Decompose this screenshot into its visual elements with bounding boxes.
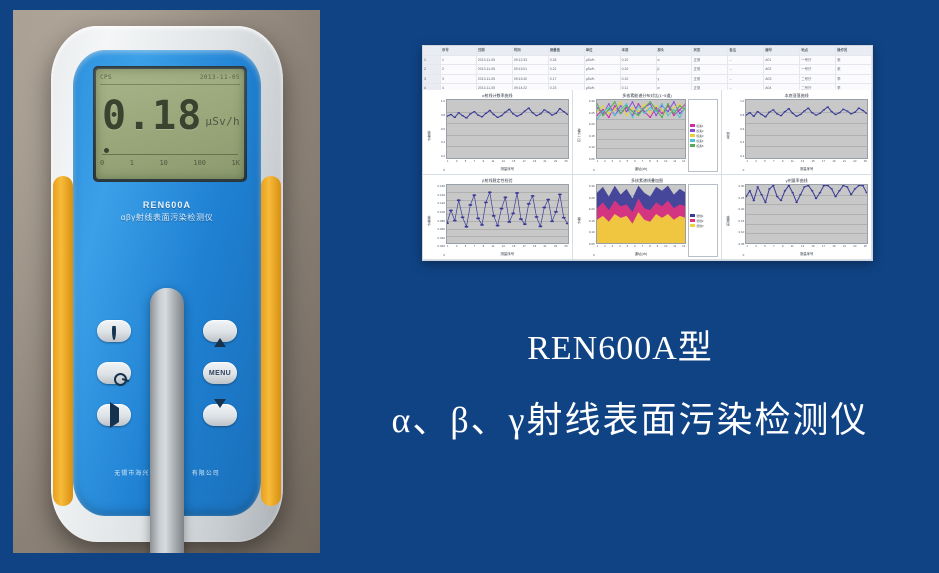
chart-data-point xyxy=(504,112,507,113)
chart-data-point xyxy=(835,114,838,115)
spreadsheet-header-cell: 序号 xyxy=(441,46,477,55)
chart-series-line xyxy=(447,108,568,118)
chart-data-point xyxy=(749,190,752,191)
chart-x-tick: 23 xyxy=(853,159,856,166)
chart-data-point xyxy=(858,185,861,186)
chart-data-point xyxy=(643,103,645,104)
chart-y-tick: 0.30 xyxy=(582,99,595,103)
chart-x-tick: 19 xyxy=(832,159,835,166)
chart-x-tick: 13 xyxy=(801,244,804,251)
chart-x-tick: 9 xyxy=(657,159,659,166)
chart-y-tick: 0.8 xyxy=(432,113,445,117)
chart-data-point xyxy=(619,101,621,102)
chart-legend-label: 核素2 xyxy=(696,129,703,133)
chart-data-point xyxy=(457,112,460,113)
chart-y-tick: 0.25 xyxy=(731,196,744,200)
chart-x-tick: 17 xyxy=(523,244,526,251)
spreadsheet-cell: 0.10 xyxy=(621,75,657,84)
spreadsheet-cell: 0.10 xyxy=(621,56,657,65)
chart-x-ticks: 135791113151719212325 xyxy=(745,244,868,251)
chart-data-point xyxy=(835,196,838,197)
product-subtitle: α、β、γ射线表面污染检测仪 xyxy=(330,391,930,443)
chart-data-point xyxy=(831,111,834,112)
chart-data-point xyxy=(819,192,822,193)
chart-data-point xyxy=(619,113,621,114)
chart-data-point xyxy=(492,114,495,115)
chart-data-point xyxy=(764,202,767,203)
chart-x-tick: 10 xyxy=(664,159,667,166)
spreadsheet-cell: -- xyxy=(728,65,764,74)
device-faceplate: CPS 2013-11-05 0.18 μSv/h 0 xyxy=(73,50,261,516)
chart-x-tick: 9 xyxy=(483,244,485,251)
chart-x-tick: 23 xyxy=(853,244,856,251)
spreadsheet-cell: 正常 xyxy=(692,75,728,84)
chart-legend-label: 核素1 xyxy=(696,124,703,128)
chart-body: 本底1.00.80.60.40.20135791113151719212325测… xyxy=(725,99,868,172)
chart-data-point xyxy=(524,110,527,111)
chart-legend-swatch xyxy=(690,129,695,132)
chart-y-tick: 0.10 xyxy=(582,145,595,149)
chart-y-tick: 0.8 xyxy=(731,113,744,117)
chart-data-point xyxy=(613,101,615,102)
chart-y-tick: 1.0 xyxy=(731,99,744,103)
chart-data-point xyxy=(531,112,534,113)
product-model-title: REN600A型 xyxy=(310,320,930,369)
spreadsheet-row: 332013-11-0509:13:400.17μSv/h0.10γ正常--A0… xyxy=(423,75,872,85)
spreadsheet-cell: μSv/h xyxy=(585,65,621,74)
chart-data-point xyxy=(746,196,747,197)
chart-data-point xyxy=(637,111,639,112)
chart-data-point xyxy=(643,107,645,108)
chart-data-point xyxy=(842,185,845,186)
chart-data-point xyxy=(619,109,621,110)
chart-data-point xyxy=(655,105,657,106)
chart-legend-label: 核素5 xyxy=(696,144,703,148)
chart-x-ticks: 123456789101112 xyxy=(596,244,687,251)
chart-data-point xyxy=(673,101,675,102)
down-button[interactable] xyxy=(203,404,237,426)
chart-x-tick: 25 xyxy=(864,159,867,166)
chart-body: 计数率1.00.80.60.40.20135791113151719212325… xyxy=(426,99,569,172)
chart-y-tick: 0.20 xyxy=(582,122,595,126)
chart-data-point xyxy=(602,115,604,116)
chart-y-tick: 0.20 xyxy=(731,207,744,211)
spreadsheet-header-cell: 状态 xyxy=(692,46,728,55)
chart-legend-item: 谱线1 xyxy=(690,214,716,218)
chart-series-layer xyxy=(597,185,686,243)
spreadsheet-header-cell: 测量值 xyxy=(549,46,585,55)
chart-y-tick: 0.05 xyxy=(731,242,744,246)
chart-x-tick: 15 xyxy=(512,244,515,251)
slide-canvas: CPS 2013-11-05 0.18 μSv/h 0 xyxy=(0,0,939,573)
chart-data-point xyxy=(655,115,657,116)
chart-y-tick: 0.15 xyxy=(731,219,744,223)
chart-x-tick: 13 xyxy=(502,244,505,251)
chart-data-point xyxy=(608,109,610,110)
spreadsheet-cell: A02 xyxy=(764,65,800,74)
chart-data-point xyxy=(854,188,857,189)
lcd-scale: 0 1 10 100 1K xyxy=(100,157,240,169)
chart-x-tick: 2 xyxy=(604,244,606,251)
spreadsheet-cell: 张 xyxy=(836,56,872,65)
chart-data-point xyxy=(823,185,826,186)
chart-x-tick: 7 xyxy=(773,244,775,251)
chart-data-point xyxy=(803,110,806,111)
chart-data-point xyxy=(678,103,680,104)
chart-series-line xyxy=(746,186,867,203)
chart-gridline xyxy=(447,243,568,244)
chart-y-tick: 0 xyxy=(731,253,744,257)
chart-x-axis-label: 道址(ch) xyxy=(596,166,687,172)
chart-data-point xyxy=(862,185,865,186)
menu-button[interactable]: MENU xyxy=(203,362,237,384)
chart-legend-item: 谱线2 xyxy=(690,219,716,223)
chart-y-tick: 0.100 xyxy=(432,210,445,214)
chart-data-point xyxy=(673,107,675,108)
spreadsheet-cell: 09:13:40 xyxy=(513,75,549,84)
spreadsheet-header-cell: 日期 xyxy=(477,46,513,55)
chart-x-tick: 5 xyxy=(764,159,766,166)
chart-title: 多核素能谱分布对比(1~5道) xyxy=(576,92,719,99)
spreadsheet-cell: A01 xyxy=(764,56,800,65)
chart-legend-label: 谱线2 xyxy=(696,219,703,223)
chart-x-tick: 3 xyxy=(612,244,614,251)
spreadsheet-cell: 正常 xyxy=(692,56,728,65)
chart-data-point xyxy=(842,109,845,110)
chart-data-point xyxy=(846,110,849,111)
power-icon xyxy=(112,325,116,337)
chart-x-ticks: 135791113151719212325 xyxy=(745,159,868,166)
chart-data-point xyxy=(827,106,830,107)
chart-data-point xyxy=(551,114,554,115)
chart-y-tick: 0.020 xyxy=(432,244,445,248)
spreadsheet-cell: 一号厅 xyxy=(800,56,836,65)
triangle-up-icon xyxy=(214,325,226,337)
chart-x-tick: 7 xyxy=(474,159,476,166)
chart-data-point xyxy=(602,109,604,110)
chart-plot-area xyxy=(596,99,687,159)
chart-data-point xyxy=(461,115,464,116)
chart-x-tick: 25 xyxy=(864,244,867,251)
chart-panel: α射线计数率曲线计数率1.00.80.60.40.201357911131517… xyxy=(423,90,573,175)
lcd-bargraph xyxy=(102,147,238,155)
chart-data-point xyxy=(613,109,615,110)
chart-data-point xyxy=(655,109,657,110)
chart-x-tick: 2 xyxy=(604,159,606,166)
chart-x-tick: 23 xyxy=(554,159,557,166)
chart-y-tick: 0.120 xyxy=(432,201,445,205)
chart-y-ticks: 0.300.250.200.150.100.050 xyxy=(582,184,596,257)
chart-y-tick: 0.10 xyxy=(731,230,744,234)
chart-data-point xyxy=(678,109,680,110)
chart-x-tick: 15 xyxy=(512,159,515,166)
chart-data-point xyxy=(516,116,519,117)
chart-x-tick: 15 xyxy=(811,159,814,166)
lcd-scale-tick: 0 xyxy=(100,159,104,167)
chart-data-point xyxy=(854,112,857,113)
chart-plot-area xyxy=(596,184,687,244)
chart-y-tick: 0.6 xyxy=(731,127,744,131)
chart-y-ticks: 1.00.80.60.40.20 xyxy=(432,99,446,172)
chart-data-point xyxy=(772,109,775,110)
spreadsheet-cell: 一号厅 xyxy=(800,65,836,74)
chart-x-tick: 3 xyxy=(456,244,458,251)
chart-data-point xyxy=(608,113,610,114)
chart-data-point xyxy=(667,103,669,104)
chart-data-point xyxy=(535,115,538,116)
lcd-bargraph-marker xyxy=(104,148,109,153)
chart-data-point xyxy=(520,114,523,115)
chart-x-tick: 12 xyxy=(682,244,685,251)
chart-gridline xyxy=(597,158,686,159)
product-photo: CPS 2013-11-05 0.18 μSv/h 0 xyxy=(13,10,320,553)
chart-x-tick: 3 xyxy=(755,159,757,166)
chart-data-point xyxy=(803,186,806,187)
chart-data-point xyxy=(757,186,760,187)
chart-data-point xyxy=(784,190,787,191)
chart-title: 本底涨落曲线 xyxy=(725,92,868,99)
chart-data-point xyxy=(613,115,615,116)
chart-data-point xyxy=(776,196,779,197)
chart-series-layer xyxy=(447,100,568,158)
spreadsheet-cell: γ xyxy=(657,75,693,84)
lcd-scale-tick: 100 xyxy=(193,159,206,167)
chart-data-point xyxy=(481,116,484,117)
chart-data-point xyxy=(866,192,867,193)
chart-data-point xyxy=(667,115,669,116)
chart-title: β射线稳定性检验 xyxy=(426,177,569,184)
chart-data-point xyxy=(613,105,615,106)
spreadsheet-cell: 2013-11-05 xyxy=(477,56,513,65)
chart-data-point xyxy=(819,113,822,114)
spreadsheet-cell: 2013-11-05 xyxy=(477,75,513,84)
chart-series-layer xyxy=(746,185,867,243)
chart-data-point xyxy=(602,105,604,106)
chart-data-point xyxy=(862,110,865,111)
lcd-scale-tick: 10 xyxy=(159,159,167,167)
chart-x-axis-label: 测量序号 xyxy=(745,166,868,172)
chart-data-point xyxy=(485,113,488,114)
chart-data-point xyxy=(562,111,565,112)
triangle-right-icon xyxy=(110,409,119,421)
chart-x-tick: 15 xyxy=(811,244,814,251)
chart-y-tick: 0.140 xyxy=(432,193,445,197)
chart-x-tick: 5 xyxy=(465,159,467,166)
chart-data-point xyxy=(815,198,818,199)
chart-legend: 核素1核素2核素3核素4核素5 xyxy=(688,99,718,172)
spreadsheet-header-cell: 备注 xyxy=(728,46,764,55)
chart-data-point xyxy=(780,200,783,201)
chart-y-tick: 0.160 xyxy=(432,184,445,188)
spreadsheet-cell: 1 xyxy=(441,56,477,65)
chart-x-tick: 9 xyxy=(782,244,784,251)
spreadsheet-header-cell: 操作员 xyxy=(836,46,872,55)
lcd-value: 0.18 xyxy=(102,96,202,136)
chart-legend-label: 核素4 xyxy=(696,139,703,143)
chart-x-tick: 21 xyxy=(544,159,547,166)
detector-device-body: CPS 2013-11-05 0.18 μSv/h 0 xyxy=(51,26,283,542)
chart-x-axis-label: 测量序号 xyxy=(446,166,569,172)
chart-y-axis-label: 计数 xyxy=(576,184,582,257)
chart-plot-area xyxy=(446,99,569,159)
chart-plot-wrap: 123456789101112道址(ch) xyxy=(596,184,687,257)
chart-data-point xyxy=(649,117,651,118)
chart-x-tick: 1 xyxy=(597,244,599,251)
chart-x-tick: 9 xyxy=(483,159,485,166)
spreadsheet-cell: 正常 xyxy=(692,65,728,74)
spreadsheet-cell: 09:12:33 xyxy=(513,56,549,65)
chart-data-point xyxy=(838,112,841,113)
chart-data-point xyxy=(678,117,680,118)
spreadsheet-header-cell: 地点 xyxy=(800,46,836,55)
chart-plot-area xyxy=(745,99,868,159)
chart-x-tick: 1 xyxy=(447,244,449,251)
chart-y-tick: 0.05 xyxy=(582,157,595,161)
chart-title: α射线计数率曲线 xyxy=(426,92,569,99)
chart-y-tick: 0.080 xyxy=(432,219,445,223)
power-button[interactable] xyxy=(97,320,131,342)
chart-data-point xyxy=(811,190,814,191)
spreadsheet-cell: 张 xyxy=(836,65,872,74)
chart-data-point xyxy=(811,112,814,113)
chart-x-tick: 17 xyxy=(523,159,526,166)
chart-y-tick: 0.25 xyxy=(582,111,595,115)
spreadsheet-cell: 09:13:01 xyxy=(513,65,549,74)
chart-data-point xyxy=(619,105,621,106)
chart-data-point xyxy=(625,111,627,112)
chart-data-point xyxy=(643,113,645,114)
spreadsheet-header-cell: 时间 xyxy=(513,46,549,55)
lcd-screen: CPS 2013-11-05 0.18 μSv/h 0 xyxy=(96,69,244,179)
chart-data-point xyxy=(823,109,826,110)
search-button[interactable] xyxy=(97,362,131,384)
chart-legend-swatch xyxy=(690,144,695,147)
chart-data-point xyxy=(453,117,456,118)
chart-x-tick: 19 xyxy=(533,159,536,166)
chart-data-point xyxy=(772,185,775,186)
chart-panel: γ剂量率曲线剂量率0.300.250.200.150.100.050135791… xyxy=(722,175,872,260)
chart-legend-item: 核素1 xyxy=(690,124,716,128)
chart-data-point xyxy=(780,115,783,116)
chart-data-point xyxy=(631,107,633,108)
chart-series-line xyxy=(746,107,867,117)
spreadsheet-cell: μSv/h xyxy=(585,56,621,65)
manufacturer-text-right: 有限公司 xyxy=(192,468,220,477)
chart-data-point xyxy=(465,117,468,118)
chart-data-point xyxy=(597,103,598,104)
chart-data-point xyxy=(776,113,779,114)
chart-x-axis-label: 测量序号 xyxy=(745,251,868,257)
chart-x-tick: 1 xyxy=(597,159,599,166)
chart-body: 剂量率0.300.250.200.150.100.050135791113151… xyxy=(725,184,868,257)
chart-data-point xyxy=(631,117,633,118)
chart-y-tick: 0.30 xyxy=(582,184,595,188)
chart-x-tick: 7 xyxy=(642,159,644,166)
chart-plot-wrap: 123456789101112道址(ch) xyxy=(596,99,687,172)
chart-x-tick: 21 xyxy=(843,159,846,166)
chart-data-point xyxy=(838,190,841,191)
chart-data-point xyxy=(547,112,550,113)
chart-legend-swatch xyxy=(690,219,695,222)
chart-data-point xyxy=(637,105,639,106)
chart-x-tick: 3 xyxy=(612,159,614,166)
chart-legend-item: 核素3 xyxy=(690,134,716,138)
manufacturer-text-left: 无锡市海兴 xyxy=(114,468,149,477)
spreadsheet-cell: A03 xyxy=(764,75,800,84)
chart-data-point xyxy=(846,186,849,187)
device-chinese-label: αβγ射线表面污染检测仪 xyxy=(73,212,261,223)
chart-x-tick: 7 xyxy=(773,159,775,166)
chart-data-point xyxy=(631,101,633,102)
chart-data-point xyxy=(678,113,680,114)
chart-plot-wrap: 135791113151719212325测量序号 xyxy=(446,184,569,257)
chart-y-axis-label: 归一计数 xyxy=(576,99,582,172)
chart-x-tick: 7 xyxy=(474,244,476,251)
chart-data-point xyxy=(753,200,756,201)
chart-y-ticks: 0.300.250.200.150.100.050 xyxy=(582,99,596,172)
chart-data-point xyxy=(625,105,627,106)
spreadsheet-cell: 0.18 xyxy=(549,56,585,65)
chart-x-tick: 11 xyxy=(673,159,676,166)
chart-data-point xyxy=(508,109,511,110)
chart-data-point xyxy=(543,109,546,110)
chart-legend-item: 核素2 xyxy=(690,129,716,133)
chart-series-line xyxy=(447,192,568,226)
chart-data-point xyxy=(827,185,830,186)
up-button[interactable] xyxy=(203,320,237,342)
chart-data-point xyxy=(555,113,558,114)
chart-legend-label: 谱线3 xyxy=(696,224,703,228)
spreadsheet-row-index xyxy=(423,46,441,55)
chart-x-tick: 5 xyxy=(764,244,766,251)
chart-legend-label: 谱线1 xyxy=(696,214,703,218)
chart-x-tick: 13 xyxy=(502,159,505,166)
chart-data-point xyxy=(792,113,795,114)
lcd-scale-tick: 1 xyxy=(130,159,134,167)
chart-y-tick: 0.05 xyxy=(582,242,595,246)
chart-gridline xyxy=(447,158,568,159)
chart-grid: α射线计数率曲线计数率1.00.80.60.40.201357911131517… xyxy=(423,90,872,260)
chart-x-tick: 7 xyxy=(642,244,644,251)
spreadsheet-cell: 0.21 xyxy=(549,65,585,74)
chart-y-axis-label: 计数率 xyxy=(426,184,432,257)
play-button[interactable] xyxy=(97,404,131,426)
chart-x-tick: 11 xyxy=(491,159,494,166)
spreadsheet-cell: 0.17 xyxy=(549,75,585,84)
chart-data-point xyxy=(796,116,799,117)
chart-y-tick: 0.4 xyxy=(432,140,445,144)
chart-data-point xyxy=(749,112,752,113)
chart-panel: 多核素谱线叠加图计数0.300.250.200.150.100.05012345… xyxy=(573,175,723,260)
chart-data-point xyxy=(637,103,639,104)
spreadsheet-row: 222013-11-0509:13:010.21μSv/h0.10β正常--A0… xyxy=(423,65,872,75)
chart-data-point xyxy=(792,192,795,193)
spreadsheet-cell: μSv/h xyxy=(585,75,621,84)
chart-y-tick: 0 xyxy=(582,253,595,257)
chart-y-tick: 0.15 xyxy=(582,219,595,223)
chart-data-point xyxy=(850,194,853,195)
chart-y-axis-label: 剂量率 xyxy=(725,184,731,257)
chart-legend-swatch xyxy=(690,214,695,217)
chart-x-tick: 23 xyxy=(554,244,557,251)
chart-x-tick: 17 xyxy=(822,244,825,251)
chart-data-point xyxy=(631,111,633,112)
spreadsheet-cell: 2013-11-05 xyxy=(477,65,513,74)
chart-x-tick: 25 xyxy=(564,244,567,251)
chart-y-tick: 1.0 xyxy=(432,99,445,103)
chart-data-point xyxy=(768,188,771,189)
chart-y-tick: 0.2 xyxy=(432,154,445,158)
